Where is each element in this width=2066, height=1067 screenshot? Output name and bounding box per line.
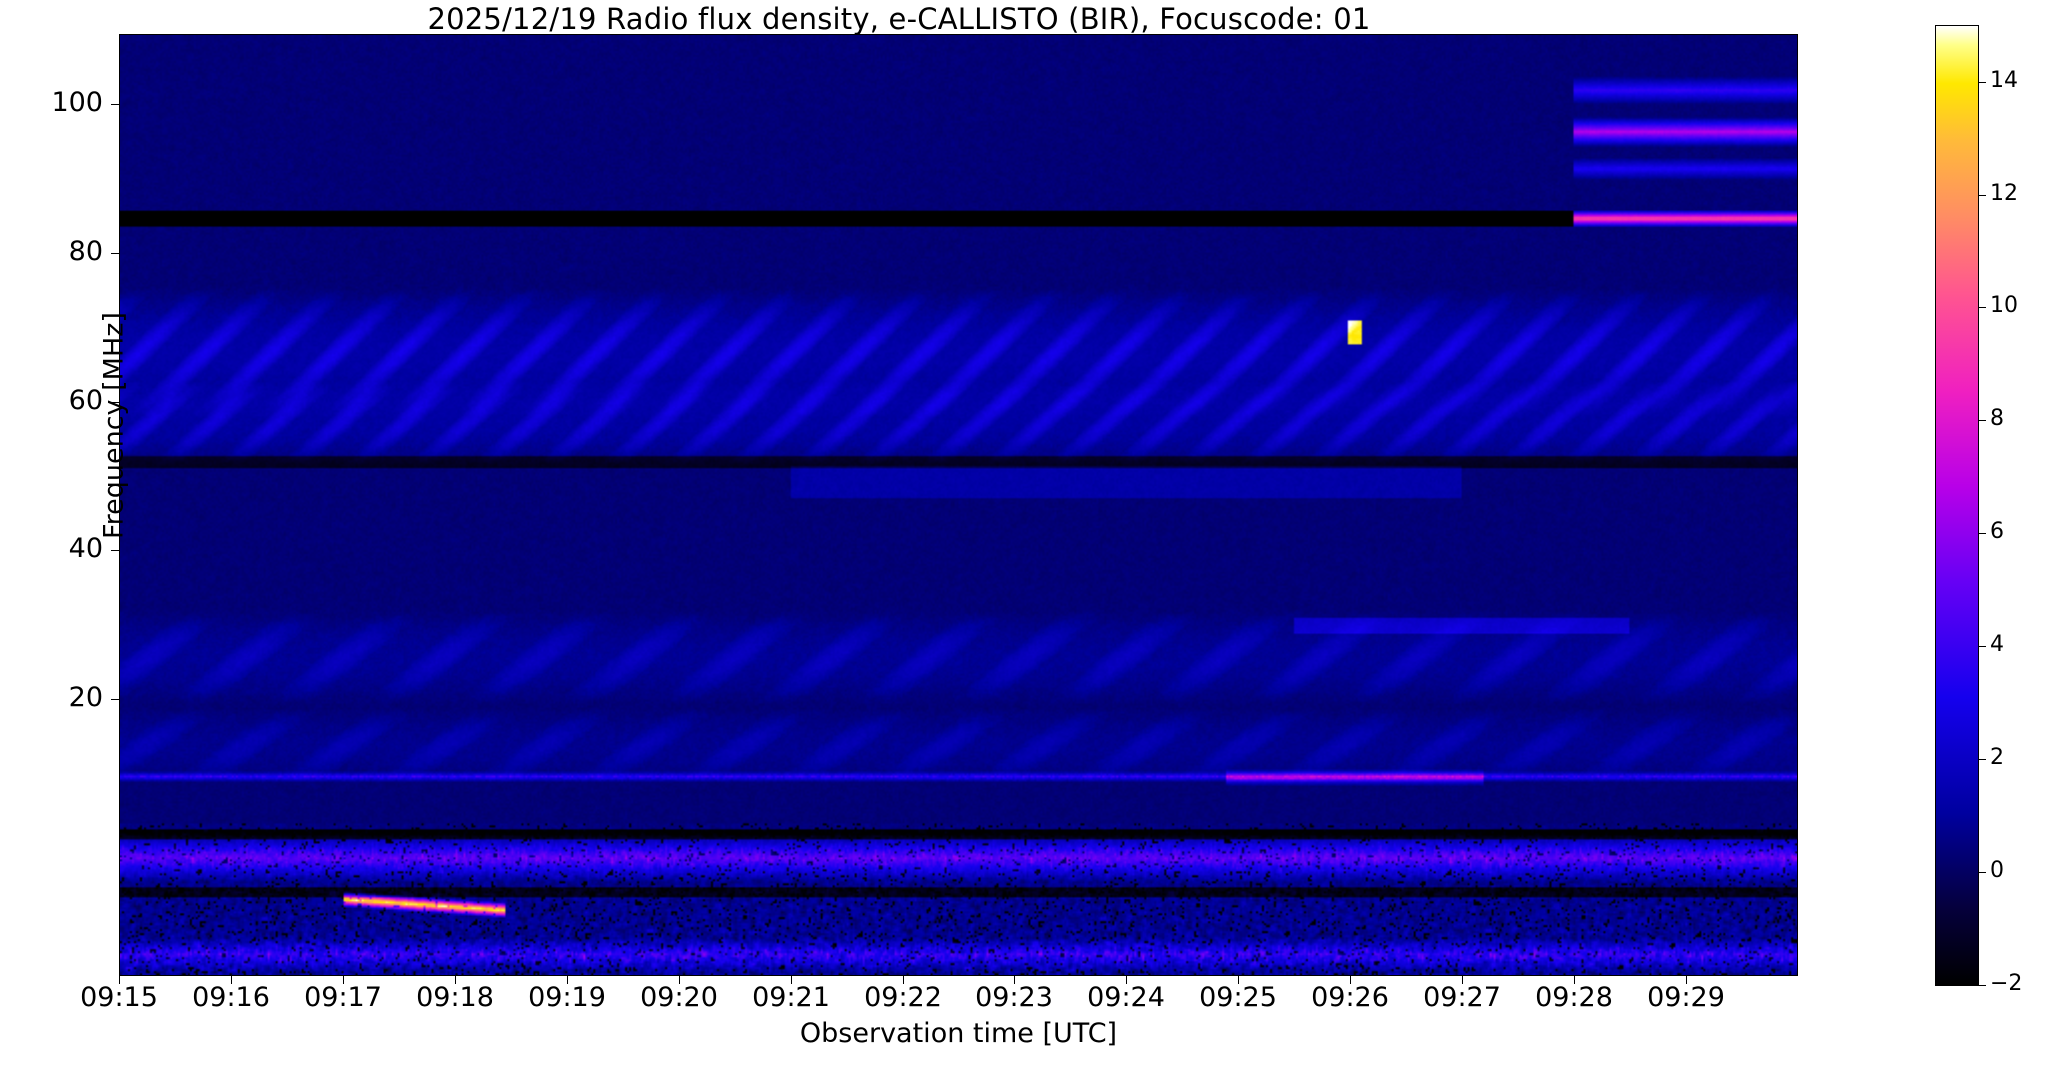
x-tick-label: 09:27 xyxy=(1397,982,1527,1013)
x-tick-label: 09:19 xyxy=(502,982,632,1013)
colorbar-tick-mark xyxy=(1979,646,1986,647)
y-tick-mark xyxy=(111,402,119,403)
y-tick-mark xyxy=(111,550,119,551)
colorbar-tick-label: −2 xyxy=(1990,971,2050,996)
colorbar-tick-label: 14 xyxy=(1990,68,2050,93)
x-tick-label: 09:15 xyxy=(54,982,184,1013)
y-tick-label: 20 xyxy=(33,682,103,713)
x-tick-label: 09:29 xyxy=(1621,982,1751,1013)
colorbar-tick-label: 4 xyxy=(1990,632,2050,657)
colorbar-tick-label: 6 xyxy=(1990,519,2050,544)
colorbar-tick-mark xyxy=(1979,82,1986,83)
spectrogram-canvas xyxy=(120,35,1797,975)
colorbar-tick-label: 12 xyxy=(1990,181,2050,206)
colorbar-gradient xyxy=(1936,26,1978,985)
colorbar-tick-label: 0 xyxy=(1990,858,2050,883)
x-tick-label: 09:17 xyxy=(278,982,408,1013)
spectrogram-image xyxy=(120,35,1797,975)
x-tick-label: 09:20 xyxy=(614,982,744,1013)
colorbar-tick-mark xyxy=(1979,195,1986,196)
y-tick-mark xyxy=(111,104,119,105)
x-tick-label: 09:28 xyxy=(1509,982,1639,1013)
colorbar-tick-label: 10 xyxy=(1990,293,2050,318)
y-tick-label: 60 xyxy=(33,385,103,416)
colorbar-tick-mark xyxy=(1979,985,1986,986)
x-tick-label: 09:23 xyxy=(949,982,1079,1013)
colorbar-tick-mark xyxy=(1979,759,1986,760)
x-tick-label: 09:25 xyxy=(1173,982,1303,1013)
colorbar-tick-mark xyxy=(1979,420,1986,421)
x-tick-label: 09:18 xyxy=(390,982,520,1013)
colorbar-tick-mark xyxy=(1979,307,1986,308)
y-tick-mark xyxy=(111,253,119,254)
y-tick-label: 80 xyxy=(33,236,103,267)
x-axis-label: Observation time [UTC] xyxy=(119,1018,1798,1049)
y-tick-label: 100 xyxy=(33,87,103,118)
x-tick-label: 09:21 xyxy=(726,982,856,1013)
colorbar-tick-label: 2 xyxy=(1990,745,2050,770)
colorbar-tick-mark xyxy=(1979,533,1986,534)
y-axis-label: Frequency [MHz] xyxy=(99,306,130,546)
x-tick-label: 09:16 xyxy=(166,982,296,1013)
page-title: 2025/12/19 Radio flux density, e-CALLIST… xyxy=(0,2,1798,36)
x-tick-label: 09:24 xyxy=(1061,982,1191,1013)
colorbar-tick-label: 8 xyxy=(1990,406,2050,431)
colorbar-tick-mark xyxy=(1979,872,1986,873)
y-tick-label: 40 xyxy=(33,533,103,564)
colorbar[interactable] xyxy=(1935,25,1979,986)
spectrogram-plot-area[interactable] xyxy=(119,34,1798,976)
y-tick-mark xyxy=(111,699,119,700)
x-tick-label: 09:26 xyxy=(1285,982,1415,1013)
